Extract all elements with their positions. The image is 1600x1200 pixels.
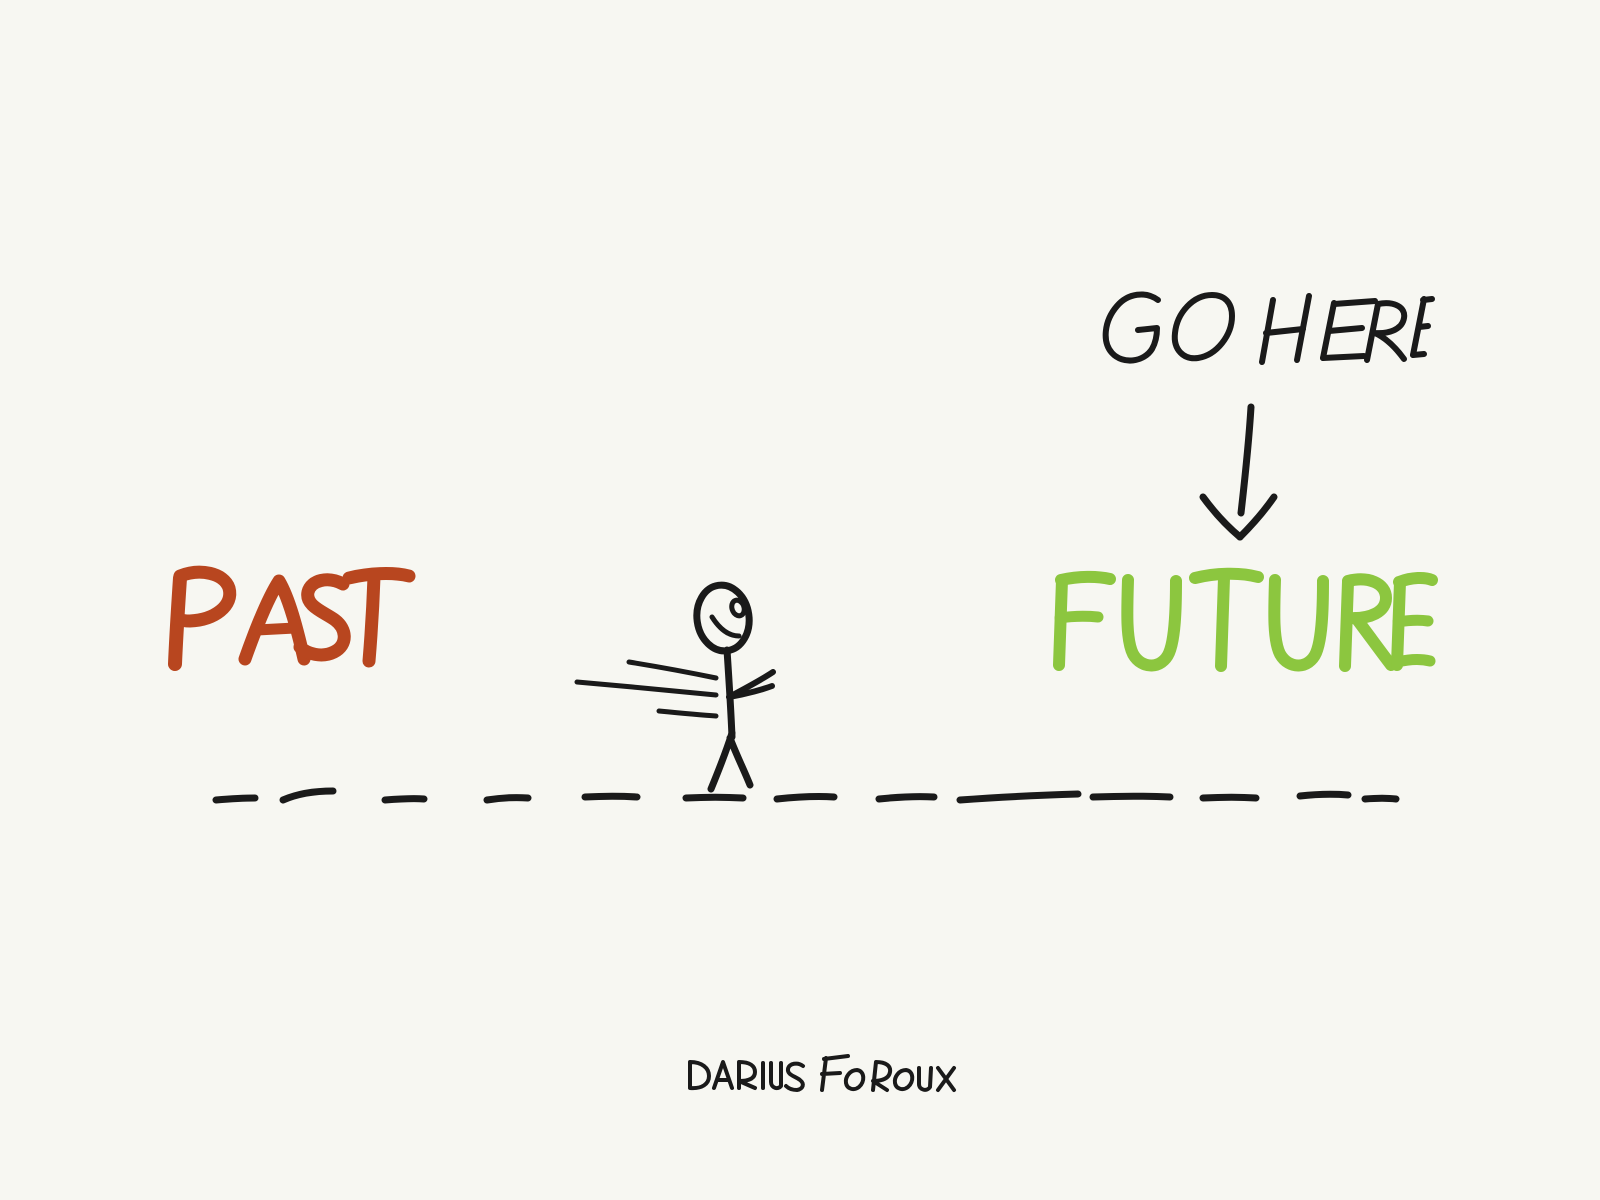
canvas-background: [0, 0, 1600, 1200]
illustration-canvas: PAST FUTURE GO HERE DARIUS FOROUX: [0, 0, 1600, 1200]
sketch-drawing: [0, 0, 1600, 1200]
